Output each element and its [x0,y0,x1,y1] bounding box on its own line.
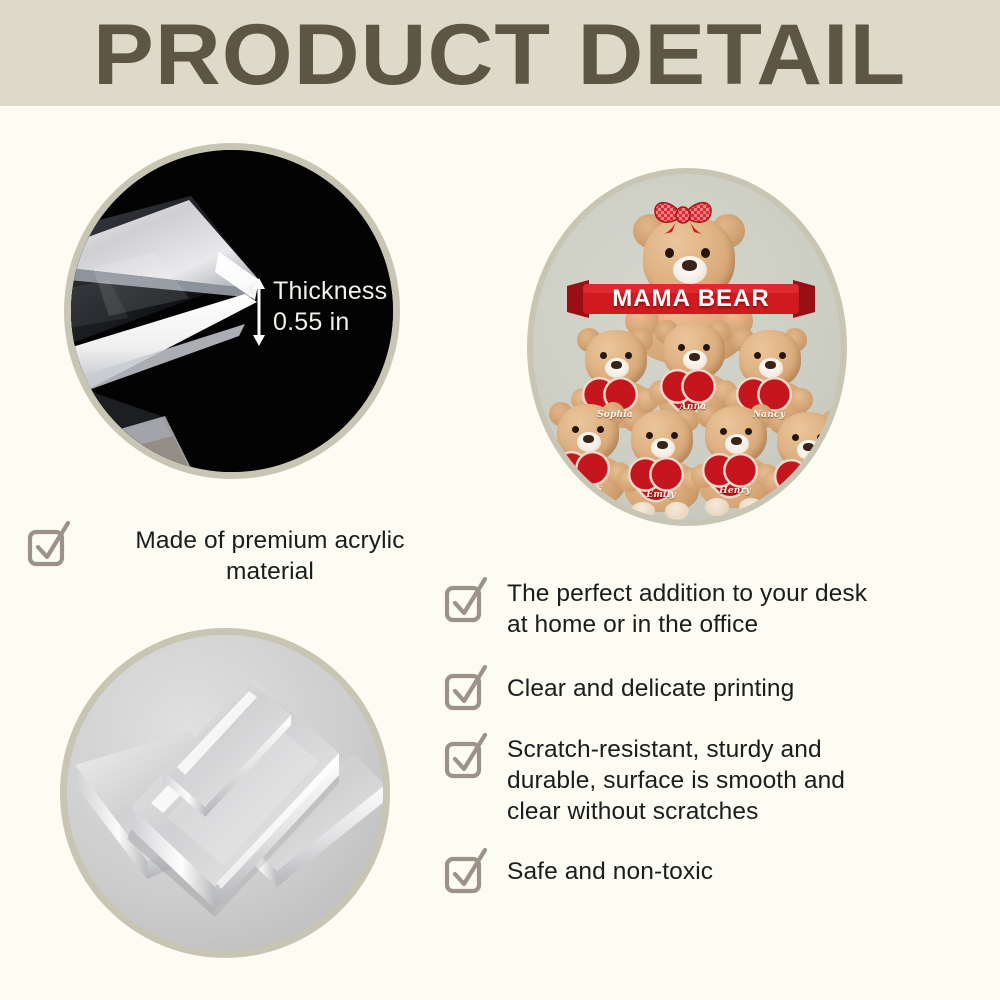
checkbox-checked-icon[interactable] [26,521,73,568]
acrylic-sheets-circle [60,628,390,958]
feature-item-desk-addition: The perfect addition to your desk at hom… [443,577,993,640]
feature-label: Clear and delicate printing [507,673,794,704]
bear-name-label: Lucas [572,484,602,494]
thickness-label: Thickness 0.55 in [273,276,387,338]
thickness-arrow-icon [251,278,267,346]
header-band: PRODUCT DETAIL [0,0,1000,106]
feature-label: Made of premium acrylic material [90,525,450,587]
feature-label: Safe and non-toxic [507,856,713,887]
bear-name-label: Nancy [753,410,785,420]
checkbox-checked-icon[interactable] [443,577,490,624]
feature-item-clear-printing: Clear and delicate printing [443,665,993,712]
checkbox-checked-icon[interactable] [443,733,490,780]
feature-item-safe-non-toxic: Safe and non-toxic [443,848,993,895]
bear-name-label: Sophia [597,410,633,420]
feature-label: The perfect addition to your desk at hom… [507,578,867,640]
feature-item-scratch-resistant: Scratch-resistant, sturdy and durable, s… [443,733,993,827]
bear-james: James [765,404,847,520]
checkbox-checked-icon[interactable] [443,848,490,895]
thickness-closeup-circle: Thickness 0.55 in [64,143,400,479]
page-title: PRODUCT DETAIL [93,12,906,98]
red-gingham-bow-icon [652,196,714,234]
stacked-acrylic-sheets-illustration [67,635,385,953]
feature-item-premium-acrylic: Made of premium acrylic material [26,521,456,587]
feature-label: Scratch-resistant, sturdy and durable, s… [507,734,845,827]
bear-name-label: James [791,492,822,502]
bear-name-label: Anna [680,402,707,412]
checkbox-checked-icon[interactable] [443,665,490,712]
mama-bear-banner-text: MAMA BEAR [567,285,815,313]
bear-name-label: Emily [646,490,675,500]
product-photo-circle: MAMA BEAR Sophia Anna [527,168,847,526]
bear-name-label: Henry [719,486,751,496]
